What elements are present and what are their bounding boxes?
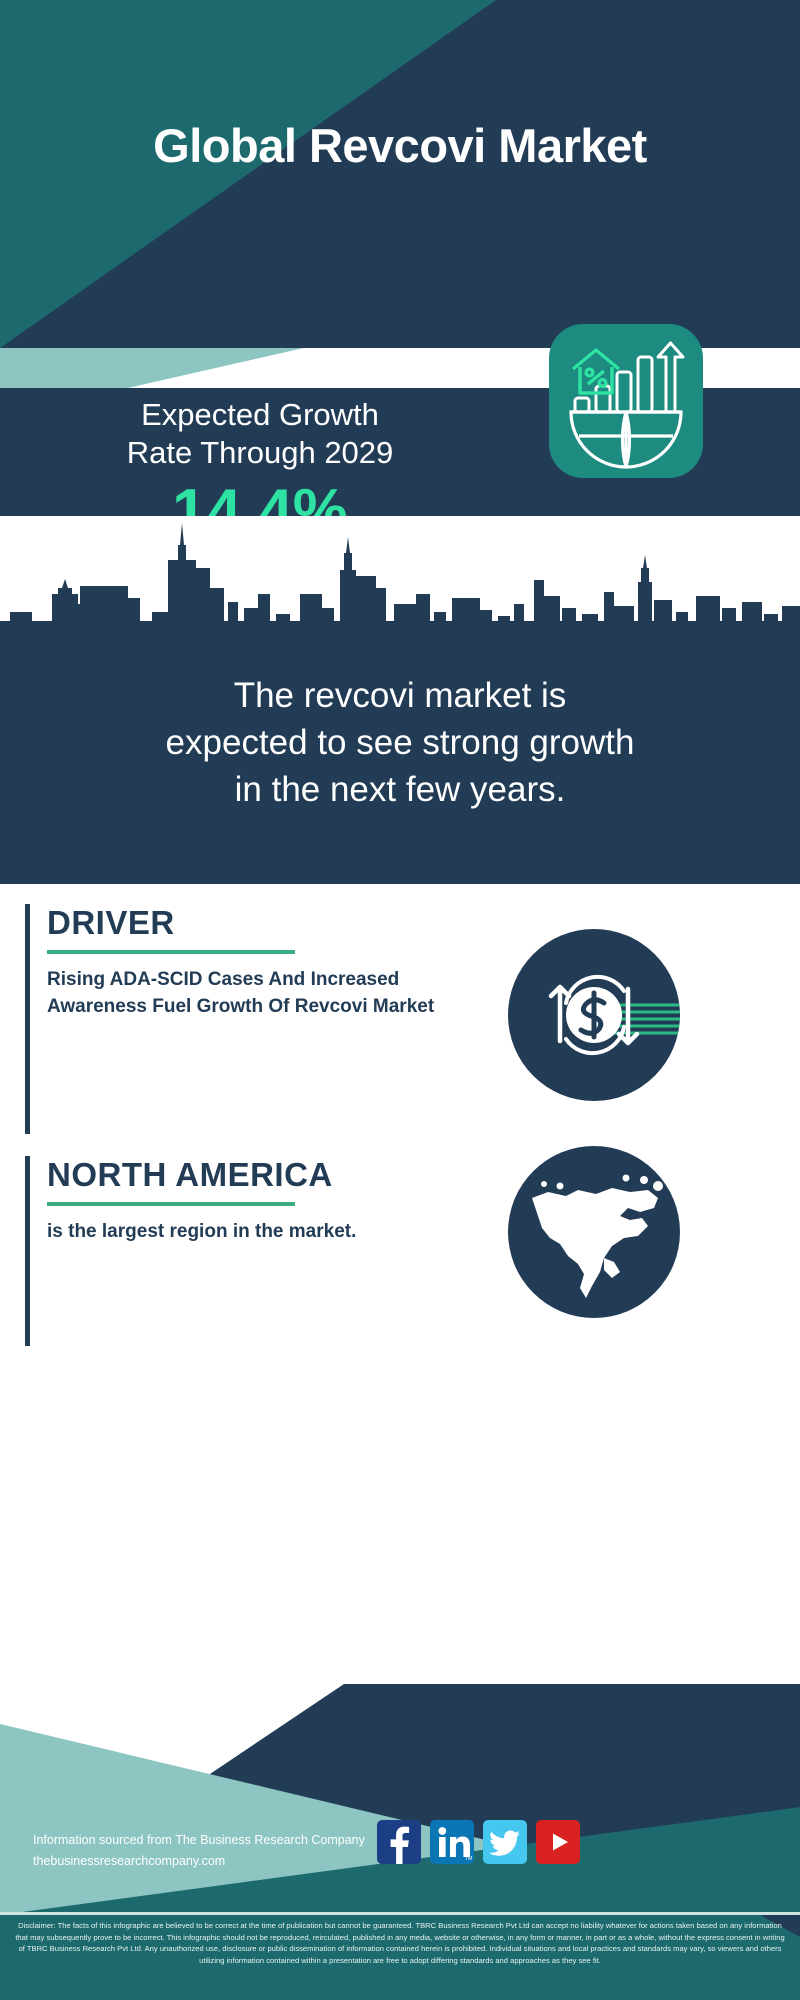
footer-source: Information sourced from The Business Re… — [33, 1830, 433, 1872]
region-description: is the largest region in the market. — [47, 1218, 467, 1245]
header-banner: Global Revcovi Market — [0, 0, 800, 348]
footer-divider — [0, 1912, 800, 1915]
city-skyline-silhouette — [0, 516, 800, 636]
disclaimer-text: Disclaimer: The facts of this infographi… — [14, 1920, 786, 1966]
svg-text:TM: TM — [465, 1856, 472, 1862]
footer: Information sourced from The Business Re… — [0, 1684, 800, 2000]
globe-growth-chart-icon — [549, 324, 703, 478]
footer-source-line1: Information sourced from The Business Re… — [33, 1830, 433, 1851]
market-statement-text: The revcovi market is expected to see st… — [60, 672, 740, 813]
footer-source-url[interactable]: thebusinessresearchcompany.com — [33, 1851, 433, 1872]
growth-label-line1: Expected Growth — [141, 397, 379, 432]
insight-cards-section: DRIVER Rising ADA-SCID Cases And Increas… — [0, 884, 800, 1684]
driver-accent-bar — [25, 904, 30, 1134]
region-accent-bar — [25, 1156, 30, 1346]
youtube-icon[interactable] — [536, 1820, 580, 1864]
dollar-growth-arrows-icon — [508, 929, 680, 1101]
market-statement-section: The revcovi market is expected to see st… — [0, 636, 800, 884]
region-underline — [47, 1202, 295, 1206]
growth-label-line2: Rate Through 2029 — [127, 435, 394, 470]
header-diagonal-shape — [0, 0, 800, 348]
north-america-map-icon — [508, 1146, 680, 1318]
driver-title: DRIVER — [47, 904, 467, 942]
page-title: Global Revcovi Market — [0, 118, 800, 173]
facebook-icon[interactable] — [377, 1820, 421, 1864]
driver-underline — [47, 950, 295, 954]
social-links: TM — [377, 1820, 580, 1864]
statement-line3: in the next few years. — [235, 770, 566, 809]
growth-rate-section: Expected Growth Rate Through 2029 14.4% — [0, 388, 800, 516]
driver-description: Rising ADA-SCID Cases And Increased Awar… — [47, 966, 467, 1020]
driver-card: DRIVER Rising ADA-SCID Cases And Increas… — [25, 904, 470, 1134]
region-title: NORTH AMERICA — [47, 1156, 467, 1194]
growth-rate-label: Expected Growth Rate Through 2029 — [30, 396, 490, 472]
linkedin-icon[interactable]: TM — [430, 1820, 474, 1864]
twitter-icon[interactable] — [483, 1820, 527, 1864]
statement-line2: expected to see strong growth — [166, 723, 635, 762]
region-card: NORTH AMERICA is the largest region in t… — [25, 1156, 470, 1346]
statement-line1: The revcovi market is — [234, 676, 567, 715]
